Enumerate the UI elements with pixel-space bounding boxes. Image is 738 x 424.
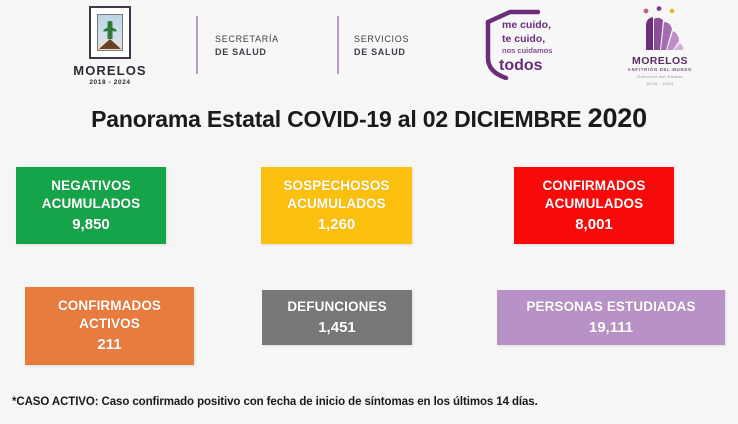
coat-of-arms-field — [97, 14, 123, 51]
morelos-coat-of-arms-block: MORELOS 2018 - 2024 — [52, 6, 168, 86]
page-title-year: 2020 — [588, 103, 647, 133]
footnote-caso-activo: *CASO ACTIVO: Caso confirmado positivo c… — [12, 396, 538, 408]
state-name-label: MORELOS — [52, 63, 168, 78]
state-years-label: 2018 - 2024 — [52, 79, 168, 86]
morelos-government-logo: MORELOS ANFITRIÓN DEL MUNDO Gobierno del… — [608, 6, 712, 84]
stat-label-line1: NEGATIVOS — [51, 177, 130, 195]
gov-logo-name: MORELOS — [608, 55, 712, 67]
gov-logo-government-line2: 2018 - 2024 — [608, 81, 712, 86]
servicios-line1: SERVICIOS — [354, 33, 409, 46]
servicios-de-salud-block: SERVICIOS DE SALUD — [354, 33, 409, 58]
stat-label-line1: SOSPECHOSOS — [283, 177, 389, 195]
servicios-line2: DE SALUD — [354, 46, 409, 59]
morelos-flower-logo-icon — [626, 6, 694, 54]
stat-card-personas-estudiadas[interactable]: PERSONAS ESTUDIADAS 19,111 — [497, 290, 725, 345]
header-bar: MORELOS 2018 - 2024 SECRETARÍA DE SALUD … — [0, 0, 738, 92]
page-title: Panorama Estatal COVID-19 al 02 DICIEMBR… — [0, 103, 738, 134]
stat-label-line2: ACUMULADOS — [42, 195, 141, 213]
stat-label-line1: CONFIRMADOS — [58, 297, 161, 315]
svg-text:todos: todos — [499, 57, 543, 74]
shield-icon: me cuido, te cuido, nos cuidamos todos — [480, 8, 562, 80]
secretaria-de-salud-block: SECRETARÍA DE SALUD — [215, 33, 279, 58]
stat-value: 9,850 — [72, 214, 110, 235]
stat-label-line1: CONFIRMADOS — [542, 177, 645, 195]
earth-mound-shape — [99, 39, 121, 49]
stat-card-confirmados-activos[interactable]: CONFIRMADOS ACTIVOS 211 — [25, 287, 194, 365]
stat-label-line2: ACUMULADOS — [545, 195, 644, 213]
svg-text:nos cuidamos: nos cuidamos — [502, 46, 552, 55]
stat-label-line1: DEFUNCIONES — [287, 298, 386, 316]
stat-card-negativos-acumulados[interactable]: NEGATIVOS ACUMULADOS 9,850 — [16, 167, 166, 244]
secretaria-line2: DE SALUD — [215, 46, 279, 59]
stat-label-line2: ACTIVOS — [79, 315, 140, 333]
stat-label-line1: PERSONAS ESTUDIADAS — [526, 298, 695, 316]
morelos-coat-of-arms-icon — [89, 6, 131, 59]
stat-value: 211 — [97, 334, 121, 355]
stat-card-confirmados-acumulados[interactable]: CONFIRMADOS ACUMULADOS 8,001 — [514, 167, 674, 244]
svg-text:me cuido,: me cuido, — [502, 19, 551, 31]
gov-logo-government-line1: Gobierno del Estado — [608, 74, 712, 79]
stat-value: 1,451 — [318, 317, 356, 338]
stat-value: 8,001 — [575, 214, 613, 235]
gov-logo-tagline: ANFITRIÓN DEL MUNDO — [608, 67, 712, 72]
stat-card-defunciones[interactable]: DEFUNCIONES 1,451 — [262, 290, 412, 345]
svg-text:te cuido,: te cuido, — [502, 33, 545, 45]
header-divider-2 — [337, 16, 339, 74]
stat-label-line2: ACUMULADOS — [287, 195, 386, 213]
stat-card-sospechosos-acumulados[interactable]: SOSPECHOSOS ACUMULADOS 1,260 — [261, 167, 412, 244]
stat-value: 1,260 — [318, 214, 356, 235]
secretaria-line1: SECRETARÍA — [215, 33, 279, 46]
header-divider-1 — [196, 16, 198, 74]
page-title-main: Panorama Estatal COVID-19 al 02 DICIEMBR… — [91, 106, 581, 132]
campaign-shield-logo: me cuido, te cuido, nos cuidamos todos — [480, 8, 562, 80]
stat-value: 19,111 — [589, 317, 633, 338]
